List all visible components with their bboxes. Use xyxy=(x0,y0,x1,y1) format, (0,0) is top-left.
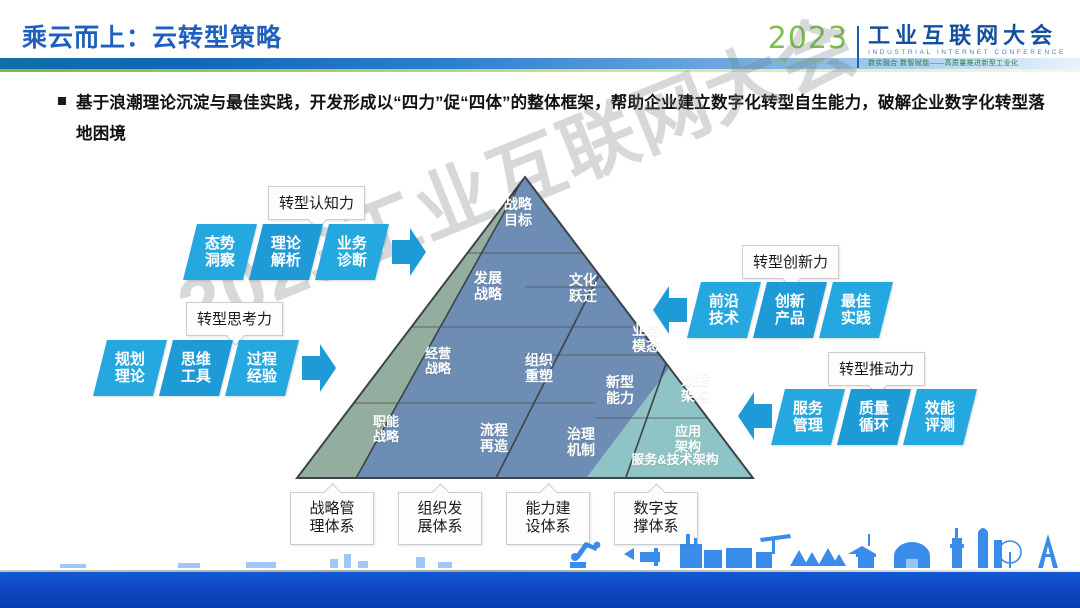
logo-year-subtitle: 中国·苏州 8月14日-16日 xyxy=(768,58,848,66)
arrow-right-icon-cognition xyxy=(392,226,426,278)
callout-cognition: 转型认知力 xyxy=(268,186,365,220)
chip-label: 规划理论 xyxy=(115,352,145,385)
sys-notch-icon xyxy=(323,483,341,501)
chip-label: 理论解析 xyxy=(271,236,301,269)
chip-row-thinking: 规划理论 思维工具 过程经验 xyxy=(100,340,292,396)
bullet-paragraph: 基于浪潮理论沉淀与最佳实践，开发形成以“四力”促“四体”的整体框架，帮助企业建立… xyxy=(58,88,1048,149)
callout-label: 转型思考力 xyxy=(197,311,272,328)
chip-thinking-tools[interactable]: 思维工具 xyxy=(159,340,233,396)
chip-innovative-product[interactable]: 创新产品 xyxy=(753,282,827,338)
chip-label: 创新产品 xyxy=(775,294,805,327)
page-title: 乘云而上：云转型策略 xyxy=(22,18,282,54)
skyline-decoration xyxy=(0,526,1080,572)
chip-label: 过程经验 xyxy=(247,352,277,385)
bullet-text: 基于浪潮理论沉淀与最佳实践，开发形成以“四力”促“四体”的整体框架，帮助企业建立… xyxy=(76,88,1048,149)
arrow-left-icon-innovation xyxy=(653,284,687,336)
chip-label: 思维工具 xyxy=(181,352,211,385)
chip-label: 前沿技术 xyxy=(709,294,739,327)
arrow-right-icon-thinking xyxy=(302,342,336,394)
chip-efficiency-evaluation[interactable]: 效能评测 xyxy=(903,389,977,445)
chip-label: 服务管理 xyxy=(793,401,823,434)
sys-notch-icon xyxy=(647,483,665,501)
chip-quality-cycle[interactable]: 质量循环 xyxy=(837,389,911,445)
callout-thinking: 转型思考力 xyxy=(186,302,283,336)
callout-label: 转型创新力 xyxy=(753,254,828,271)
chip-planning-theory[interactable]: 规划理论 xyxy=(93,340,167,396)
callout-driving: 转型推动力 xyxy=(828,352,925,386)
sys-notch-icon xyxy=(431,483,449,501)
logo-year-block: 2023 中国·苏州 8月14日-16日 xyxy=(768,24,857,66)
chip-business-diagnosis[interactable]: 业务诊断 xyxy=(315,224,389,280)
callout-label: 转型推动力 xyxy=(839,361,914,378)
slide-root: 乘云而上：云转型策略 2023 中国·苏州 8月14日-16日 工业互联网大会 … xyxy=(0,0,1080,608)
chip-label: 业务诊断 xyxy=(337,236,367,269)
chip-best-practice[interactable]: 最佳实践 xyxy=(819,282,893,338)
logo-tagline: 数实融合 数智赋能——高质量推进新型工业化 xyxy=(868,58,1066,68)
bullet-square-icon xyxy=(58,97,66,105)
header-divider-green xyxy=(0,69,1080,72)
chip-service-management[interactable]: 服务管理 xyxy=(771,389,845,445)
chip-label: 质量循环 xyxy=(859,401,889,434)
chip-label: 效能评测 xyxy=(925,401,955,434)
chip-frontier-technology[interactable]: 前沿技术 xyxy=(687,282,761,338)
conference-logo: 2023 中国·苏州 8月14日-16日 工业互联网大会 INDUSTRIAL … xyxy=(768,24,1066,68)
chip-row-cognition: 态势洞察 理论解析 业务诊断 xyxy=(190,224,382,280)
logo-name-block: 工业互联网大会 INDUSTRIAL INTERNET CONFERENCE 数… xyxy=(868,24,1066,68)
logo-year: 2023 xyxy=(768,24,848,54)
chip-label: 态势洞察 xyxy=(205,236,235,269)
chip-situation-insight[interactable]: 态势洞察 xyxy=(183,224,257,280)
logo-name-chinese: 工业互联网大会 xyxy=(868,24,1066,47)
chip-row-driving: 服务管理 质量循环 效能评测 xyxy=(778,389,970,445)
chip-process-experience[interactable]: 过程经验 xyxy=(225,340,299,396)
callout-label: 转型认知力 xyxy=(279,195,354,212)
chip-theory-analysis[interactable]: 理论解析 xyxy=(249,224,323,280)
footer-band xyxy=(0,572,1080,608)
sys-notch-icon xyxy=(539,483,557,501)
chip-row-innovation: 前沿技术 创新产品 最佳实践 xyxy=(694,282,886,338)
callout-innovation: 转型创新力 xyxy=(742,245,839,279)
logo-name-english: INDUSTRIAL INTERNET CONFERENCE xyxy=(868,49,1066,56)
arrow-left-icon-driving xyxy=(738,390,772,442)
chip-label: 最佳实践 xyxy=(841,294,871,327)
logo-divider xyxy=(857,26,859,68)
